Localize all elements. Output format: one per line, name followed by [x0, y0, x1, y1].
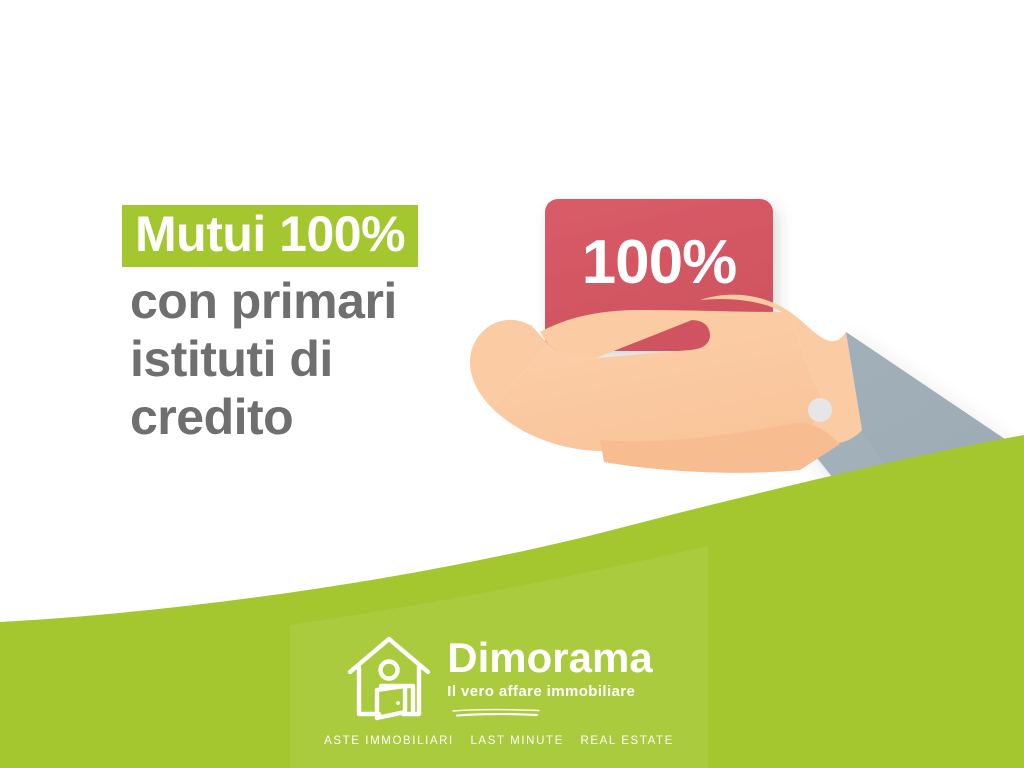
cuff-button-icon	[808, 398, 832, 422]
headline-line-1: con primari	[122, 272, 542, 330]
headline-line-3: credito	[122, 388, 542, 446]
card-percentage-label: 100%	[545, 199, 773, 351]
services-line: ASTE IMMOBILIARI LAST MINUTE REAL ESTATE	[290, 735, 708, 747]
headline-highlight: Mutui 100%	[122, 205, 418, 267]
service-item-0: ASTE IMMOBILIARI	[324, 735, 454, 747]
logo-row: Dimorama Il vero affare immobiliare	[290, 630, 708, 726]
service-item-2: REAL ESTATE	[580, 735, 673, 747]
brand-logo[interactable]: Dimorama Il vero affare immobiliare ASTE…	[290, 618, 708, 768]
headline-block: Mutui 100% con primari istituti di credi…	[122, 205, 542, 446]
hand-drawn-underline-icon	[451, 708, 543, 718]
house-outline-icon	[345, 634, 433, 726]
headline-line-2: istituti di	[122, 330, 542, 388]
brand-name: Dimorama	[447, 636, 652, 680]
brand-tagline: Il vero affare immobiliare	[447, 682, 652, 702]
service-item-1: LAST MINUTE	[470, 735, 563, 747]
logo-wordmark: Dimorama Il vero affare immobiliare	[447, 630, 652, 723]
headline-line-0: Mutui 100%	[122, 205, 542, 272]
promo-banner: Mutui 100% con primari istituti di credi…	[0, 0, 1024, 768]
